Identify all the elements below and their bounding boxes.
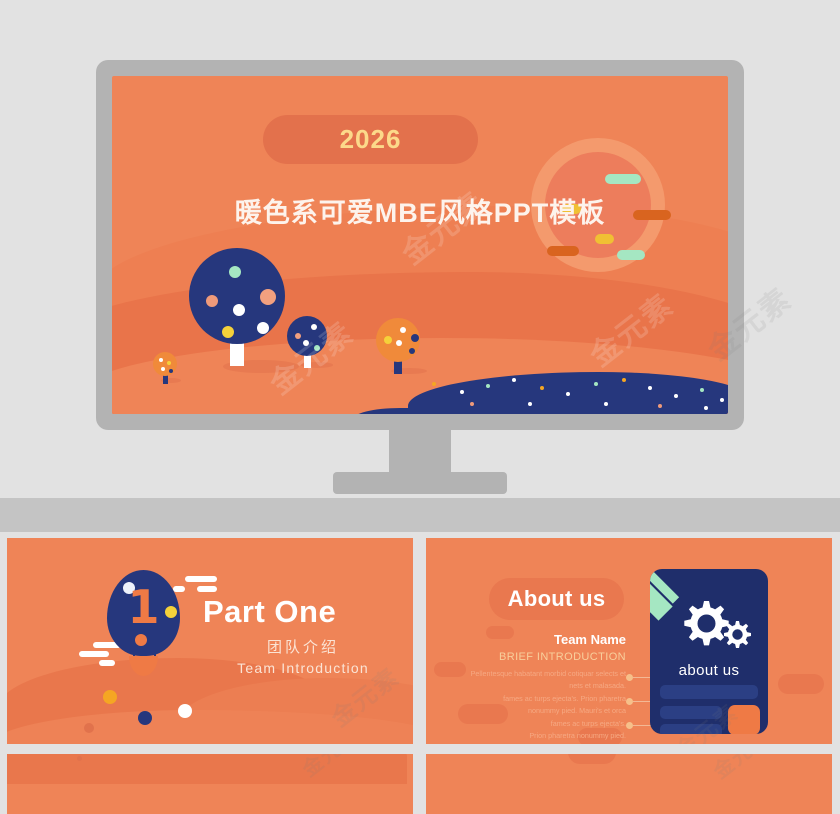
tree-small-left — [153, 352, 177, 376]
tree-dot — [396, 340, 402, 346]
year-badge-label: 2026 — [340, 124, 402, 155]
slide-title: Part One — [203, 594, 403, 630]
shelf-divider — [0, 498, 840, 532]
slide-subtitle-en: Team Introduction — [203, 660, 403, 676]
gear-icon — [674, 593, 754, 655]
tree-dot — [161, 367, 165, 371]
body-text-line: fames ac turps ejecta's. Prion pharetra — [448, 693, 626, 705]
navy-hill-dot — [566, 392, 570, 396]
navy-hill-dot — [486, 384, 490, 388]
card-bar — [660, 706, 722, 719]
navy-hill-dot — [674, 394, 678, 398]
navy-hill-dot — [512, 378, 516, 382]
body-text-line: Pellentesque habatant morbid cotiquar se… — [448, 668, 626, 680]
decorative-dot — [178, 704, 192, 718]
monitor-stand-base — [333, 472, 507, 494]
cloud-streak — [99, 660, 115, 666]
hill-shape — [7, 754, 407, 784]
tree-dot — [409, 348, 415, 354]
tree-big-navy — [189, 248, 285, 344]
navy-hill-dot — [700, 388, 704, 392]
slide-subtitle-cn: 团队介绍 — [203, 636, 403, 657]
navy-hill-dot — [648, 386, 652, 390]
hero-title: 暖色系可爱MBE风格PPT模板 — [112, 191, 728, 230]
monitor-frame: 2026 暖色系可爱MBE风格PPT模板 金元素 金元素 金元素 — [96, 60, 744, 430]
navy-hill-dot — [528, 402, 532, 406]
navy-hill-dot — [594, 382, 598, 386]
navy-hill-dot — [470, 402, 474, 406]
slide-title: About us — [508, 586, 606, 612]
tree-dot — [303, 340, 309, 346]
connector-dot — [626, 722, 633, 729]
body-text-line: fames ac turps ejecta's. — [448, 718, 626, 730]
body-text-line: nonummy pied. Mauri's et orca — [448, 705, 626, 717]
tree-dot — [400, 327, 406, 333]
tree-dot — [314, 345, 320, 351]
app-root: 2026 暖色系可爱MBE风格PPT模板 金元素 金元素 金元素 金元素 — [0, 0, 840, 788]
decorative-dot — [138, 711, 152, 725]
tree-dot — [206, 295, 218, 307]
navy-hill-dot — [622, 378, 626, 382]
thumbnail-grid: 1 Part One 团队介绍 Team Introduction 金元素 Ab… — [0, 532, 840, 788]
tree-mid-navy — [287, 316, 327, 356]
tree-dot — [393, 351, 399, 357]
decorative-pill — [778, 674, 824, 694]
tree-dot — [384, 336, 392, 344]
navy-hill-dot — [720, 398, 724, 402]
navy-hill-dot — [432, 382, 436, 386]
tree-dot — [257, 322, 269, 334]
card-label: about us — [650, 662, 768, 679]
card-bar — [660, 724, 722, 734]
sun-dash — [617, 250, 645, 260]
sun-dash — [547, 246, 579, 256]
monitor-screen[interactable]: 2026 暖色系可爱MBE风格PPT模板 金元素 金元素 金元素 — [112, 76, 728, 414]
watermark: 金元素 — [706, 754, 776, 784]
connector-dot — [626, 698, 633, 705]
body-text: Pellentesque habatant morbid cotiquar se… — [448, 668, 626, 742]
cloud-streak — [185, 576, 217, 582]
body-text-line: Prion pharetra nonummy pied. — [448, 730, 626, 742]
decorative-dot — [103, 690, 117, 704]
tree-dot — [167, 361, 171, 365]
tree-dot — [229, 266, 241, 278]
card-action-button[interactable] — [728, 705, 760, 734]
connector-dot — [626, 674, 633, 681]
hero-slide: 2026 暖色系可爱MBE风格PPT模板 金元素 金元素 金元素 — [112, 76, 728, 414]
slide-thumbnail-about-us[interactable]: About us Team Name BRIEF INTRODUCTION Pe… — [426, 538, 832, 744]
tree-dot — [411, 334, 419, 342]
team-name-label: Team Name — [466, 632, 626, 647]
cloud-streak — [197, 586, 217, 592]
navy-hill-dot — [658, 404, 662, 408]
year-badge: 2026 — [263, 115, 478, 164]
monitor-preview-area: 2026 暖色系可爱MBE风格PPT模板 金元素 金元素 金元素 金元素 — [0, 0, 840, 500]
balloon-number: 1 — [107, 584, 180, 630]
slide-thumbnail-row3-right[interactable]: 金元素 — [426, 754, 832, 814]
brief-introduction-heading: BRIEF INTRODUCTION — [466, 651, 626, 663]
decorative-pill — [568, 754, 616, 764]
tree-dot — [169, 369, 173, 373]
body-text-line: nets et malasada. — [448, 680, 626, 692]
tree-orange — [376, 318, 420, 362]
navy-hill-dot — [604, 402, 608, 406]
decorative-dot — [77, 756, 82, 761]
slide-thumbnail-part-one[interactable]: 1 Part One 团队介绍 Team Introduction 金元素 — [7, 538, 413, 744]
tree-dot — [222, 326, 234, 338]
slide-thumbnail-row3-left[interactable]: 金元素 — [7, 754, 413, 814]
about-us-card: about us — [650, 569, 768, 734]
balloon-dot — [135, 634, 147, 646]
sun-dash — [595, 234, 614, 244]
tree-dot — [233, 304, 245, 316]
card-bar — [660, 685, 758, 699]
navy-hill-dot — [540, 386, 544, 390]
tree-dot — [159, 358, 163, 362]
navy-hill-dot — [704, 406, 708, 410]
tree-dot — [260, 289, 276, 305]
decorative-dot — [84, 723, 94, 733]
slide-title-badge: About us — [489, 578, 624, 620]
tree-dot — [295, 333, 301, 339]
cloud-streak — [79, 651, 109, 657]
sun-dash — [605, 174, 641, 184]
tree-dot — [311, 324, 317, 330]
navy-hill-dot — [460, 390, 464, 394]
